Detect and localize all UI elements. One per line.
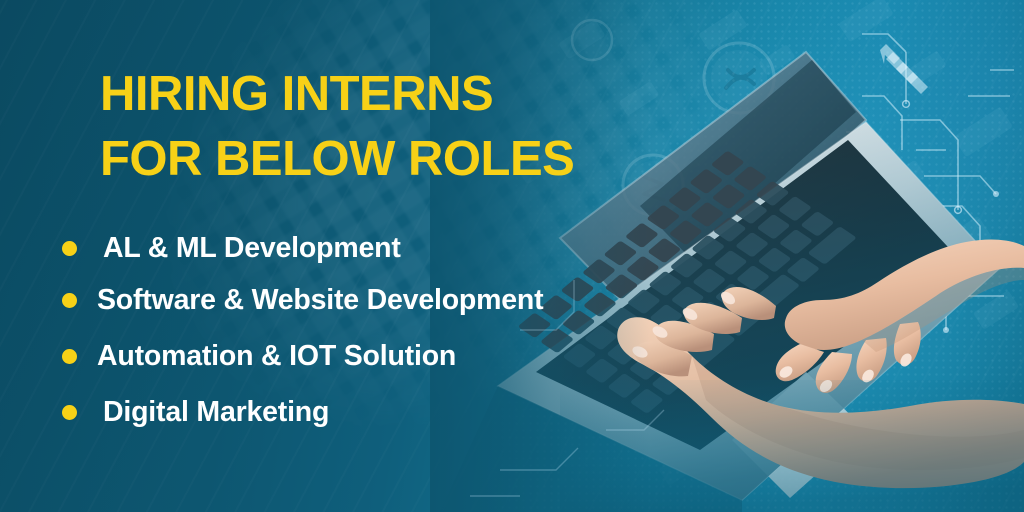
bullet-dot-icon xyxy=(62,241,77,256)
headline-line-2: FOR BELOW ROLES xyxy=(100,127,574,192)
bullet-dot-icon xyxy=(62,293,77,308)
roles-list: AL & ML Development Software & Website D… xyxy=(62,222,543,438)
role-label: AL & ML Development xyxy=(103,232,401,265)
headline-line-1: HIRING INTERNS xyxy=(100,62,574,127)
role-label: Software & Website Development xyxy=(97,284,543,317)
list-item: Digital Marketing xyxy=(62,386,543,438)
role-label: Digital Marketing xyxy=(103,396,329,429)
list-item: AL & ML Development xyxy=(62,222,543,274)
chevron-arrows-icon xyxy=(880,44,928,94)
page-title: HIRING INTERNS FOR BELOW ROLES xyxy=(100,62,574,192)
list-item: Software & Website Development xyxy=(62,274,543,326)
hiring-banner: HIRING INTERNS FOR BELOW ROLES AL & ML D… xyxy=(0,0,1024,512)
role-label: Automation & IOT Solution xyxy=(97,340,456,373)
bullet-dot-icon xyxy=(62,405,77,420)
list-item: Automation & IOT Solution xyxy=(62,326,543,386)
bullet-dot-icon xyxy=(62,349,77,364)
